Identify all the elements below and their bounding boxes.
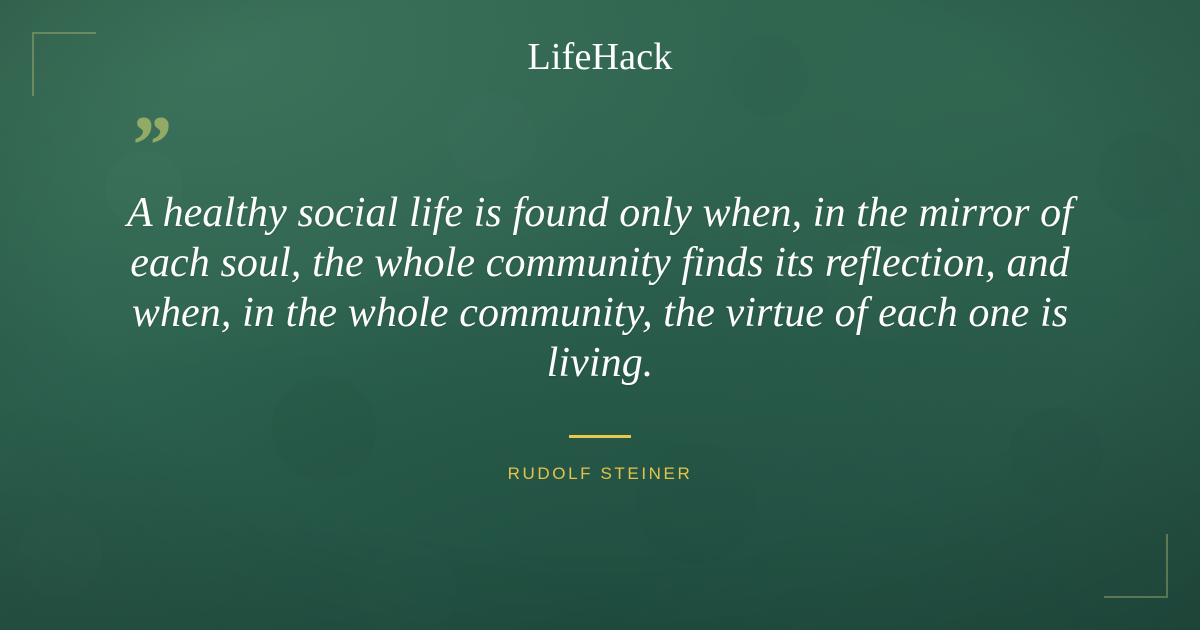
corner-bracket-bottom-right-icon <box>1104 534 1168 598</box>
divider-rule <box>569 435 631 438</box>
quote-card: LifeHack ” A healthy social life is foun… <box>0 0 1200 630</box>
quote-text: A healthy social life is found only when… <box>100 188 1100 388</box>
quotation-mark-icon: ” <box>128 104 170 188</box>
quote-author: RUDOLF STEINER <box>0 464 1200 484</box>
brand-logo-lifehack[interactable]: LifeHack <box>0 38 1200 76</box>
